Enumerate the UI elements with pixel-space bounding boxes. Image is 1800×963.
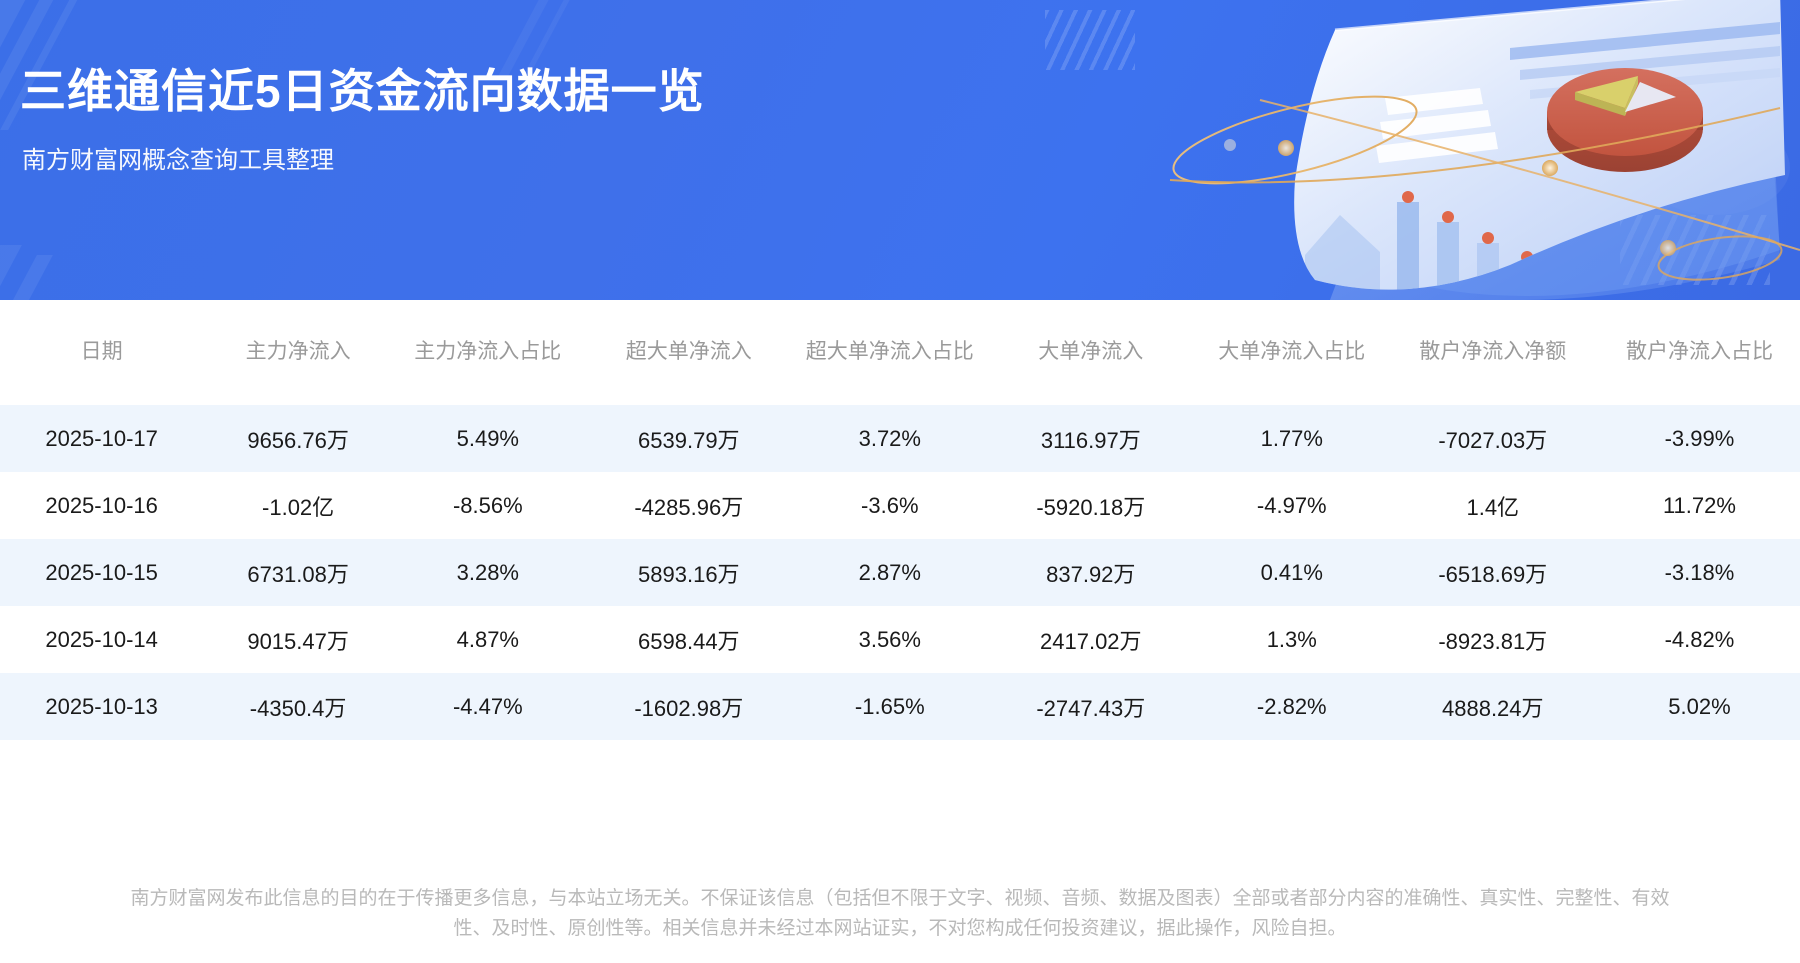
cell-lg-pct: -2.82%: [1197, 673, 1387, 740]
cell-retail-pct: -3.18%: [1599, 539, 1800, 606]
column-header-retail-pct: 散户净流入占比: [1599, 300, 1800, 405]
cell-lg-net: 837.92万: [985, 539, 1197, 606]
cell-xl-net: 5893.16万: [583, 539, 795, 606]
cell-main-net: -1.02亿: [203, 472, 393, 539]
cell-lg-net: -5920.18万: [985, 472, 1197, 539]
cell-xl-pct: 3.56%: [795, 606, 985, 673]
cell-retail-net: -7027.03万: [1387, 405, 1599, 472]
cell-date: 2025-10-16: [0, 472, 203, 539]
table-body: 2025-10-17 9656.76万 5.49% 6539.79万 3.72%…: [0, 405, 1800, 740]
cell-lg-net: -2747.43万: [985, 673, 1197, 740]
cell-retail-pct: -4.82%: [1599, 606, 1800, 673]
cell-xl-pct: -3.6%: [795, 472, 985, 539]
cell-main-pct: 4.87%: [393, 606, 583, 673]
column-header-xl-net: 超大单净流入: [583, 300, 795, 405]
cell-xl-net: -1602.98万: [583, 673, 795, 740]
cell-xl-net: -4285.96万: [583, 472, 795, 539]
cell-retail-net: 1.4亿: [1387, 472, 1599, 539]
cell-retail-pct: 11.72%: [1599, 472, 1800, 539]
cell-xl-net: 6539.79万: [583, 405, 795, 472]
cell-retail-net: 4888.24万: [1387, 673, 1599, 740]
column-header-lg-pct: 大单净流入占比: [1197, 300, 1387, 405]
cell-main-net: 9656.76万: [203, 405, 393, 472]
banner-decor-ellipse: [1355, 30, 1475, 104]
banner-decor-hatch: [1620, 215, 1770, 285]
page-title: 三维通信近5日资金流向数据一览: [20, 55, 705, 121]
column-header-lg-net: 大单净流入: [985, 300, 1197, 405]
column-header-retail-net: 散户净流入净额: [1387, 300, 1599, 405]
cell-retail-net: -6518.69万: [1387, 539, 1599, 606]
cell-xl-pct: 3.72%: [795, 405, 985, 472]
cell-lg-pct: 1.3%: [1197, 606, 1387, 673]
cell-retail-pct: 5.02%: [1599, 673, 1800, 740]
column-header-xl-pct: 超大单净流入占比: [795, 300, 985, 405]
fund-flow-table-container: 南方财富网 southmoney.com 日期 主力净流入 主力净流入占比 超大…: [0, 300, 1800, 870]
cell-lg-pct: 0.41%: [1197, 539, 1387, 606]
table-row: 2025-10-14 9015.47万 4.87% 6598.44万 3.56%…: [0, 606, 1800, 673]
column-header-date: 日期: [0, 300, 203, 405]
disclaimer-line-2: 性、及时性、原创性等。相关信息并未经过本网站证实，不对您构成任何投资建议，据此操…: [16, 914, 1784, 944]
cell-xl-pct: -1.65%: [795, 673, 985, 740]
column-header-main-net: 主力净流入: [203, 300, 393, 405]
cell-lg-pct: -4.97%: [1197, 472, 1387, 539]
cell-main-pct: 3.28%: [393, 539, 583, 606]
cell-retail-pct: -3.99%: [1599, 405, 1800, 472]
cell-retail-net: -8923.81万: [1387, 606, 1599, 673]
table-header: 日期 主力净流入 主力净流入占比 超大单净流入 超大单净流入占比 大单净流入 大…: [0, 300, 1800, 405]
table-row: 2025-10-16 -1.02亿 -8.56% -4285.96万 -3.6%…: [0, 472, 1800, 539]
disclaimer-footer: 南方财富网发布此信息的目的在于传播更多信息，与本站立场无关。不保证该信息（包括但…: [0, 870, 1800, 963]
banner-decor-ellipse: [1640, 120, 1790, 215]
cell-lg-pct: 1.77%: [1197, 405, 1387, 472]
page-subtitle: 南方财富网概念查询工具整理: [22, 140, 334, 175]
cell-lg-net: 3116.97万: [985, 405, 1197, 472]
cell-main-net: 9015.47万: [203, 606, 393, 673]
cell-date: 2025-10-15: [0, 539, 203, 606]
cell-date: 2025-10-17: [0, 405, 203, 472]
cell-xl-pct: 2.87%: [795, 539, 985, 606]
page-banner: 三维通信近5日资金流向数据一览 南方财富网概念查询工具整理: [0, 0, 1800, 300]
cell-main-pct: 5.49%: [393, 405, 583, 472]
cell-main-net: 6731.08万: [203, 539, 393, 606]
disclaimer-line-1: 南方财富网发布此信息的目的在于传播更多信息，与本站立场无关。不保证该信息（包括但…: [16, 884, 1784, 914]
banner-decor-hatch: [1045, 10, 1135, 70]
fund-flow-table: 日期 主力净流入 主力净流入占比 超大单净流入 超大单净流入占比 大单净流入 大…: [0, 300, 1800, 740]
table-row: 2025-10-13 -4350.4万 -4.47% -1602.98万 -1.…: [0, 673, 1800, 740]
cell-lg-net: 2417.02万: [985, 606, 1197, 673]
column-header-main-pct: 主力净流入占比: [393, 300, 583, 405]
table-row: 2025-10-17 9656.76万 5.49% 6539.79万 3.72%…: [0, 405, 1800, 472]
cell-date: 2025-10-13: [0, 673, 203, 740]
cell-main-net: -4350.4万: [203, 673, 393, 740]
cell-date: 2025-10-14: [0, 606, 203, 673]
table-header-row: 日期 主力净流入 主力净流入占比 超大单净流入 超大单净流入占比 大单净流入 大…: [0, 300, 1800, 405]
table-row: 2025-10-15 6731.08万 3.28% 5893.16万 2.87%…: [0, 539, 1800, 606]
cell-xl-net: 6598.44万: [583, 606, 795, 673]
cell-main-pct: -4.47%: [393, 673, 583, 740]
cell-main-pct: -8.56%: [393, 472, 583, 539]
